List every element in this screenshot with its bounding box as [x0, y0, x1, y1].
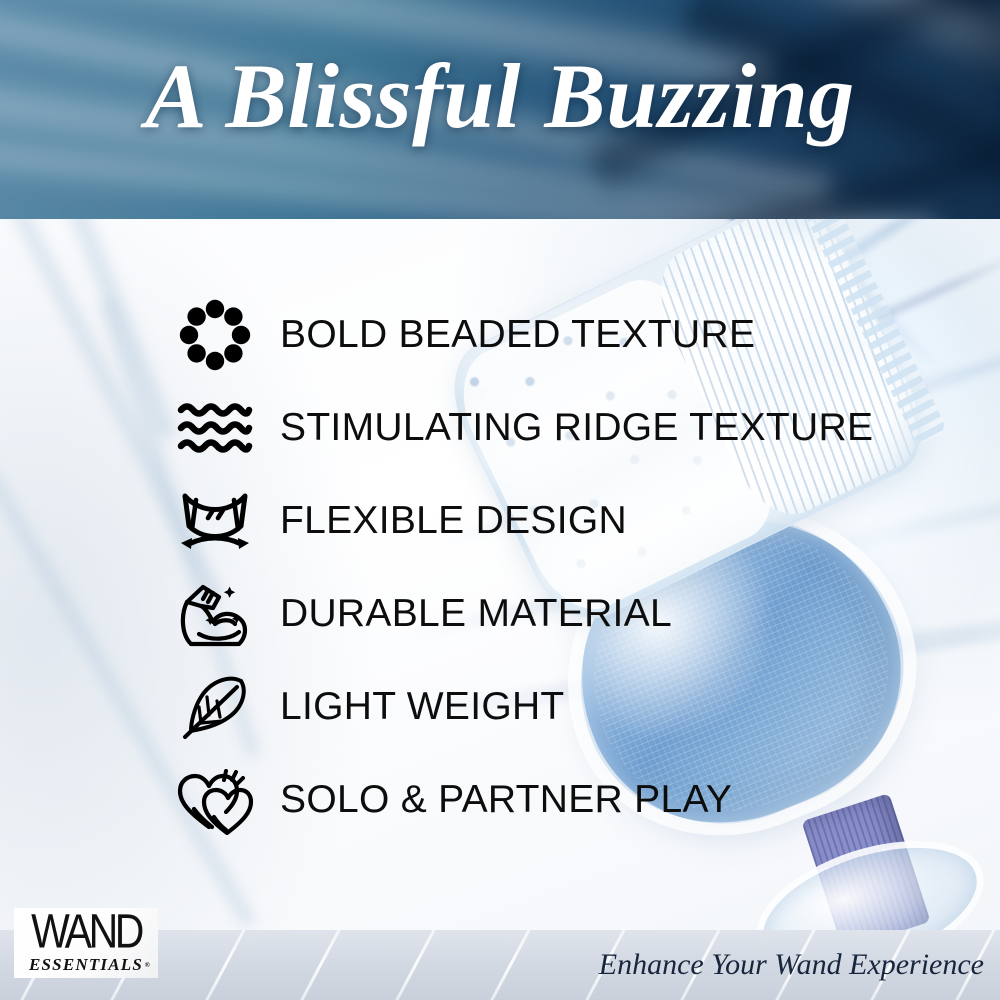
feature-label: FLEXIBLE DESIGN [280, 499, 627, 543]
flexible-band-icon [172, 485, 258, 557]
two-hearts-icon [172, 764, 258, 836]
feature-row-solo-and-partner-play: SOLO & PARTNER PLAY [172, 756, 860, 844]
logo-secondary-text: ESSENTIALS® [29, 955, 143, 975]
flexed-bicep-icon [172, 578, 258, 650]
logo-primary-text: WAND [31, 909, 141, 954]
page-title: A Blissful Buzzing [0, 50, 1000, 142]
feature-label: LIGHT WEIGHT [280, 685, 565, 729]
feature-row-light-weight: LIGHT WEIGHT [172, 663, 860, 751]
feature-list: BOLD BEADED TEXTURE STIMULATING RIDGE TE… [0, 219, 860, 930]
feature-label: BOLD BEADED TEXTURE [280, 313, 755, 357]
footer-tagline: Enhance Your Wand Experience [599, 948, 984, 982]
feature-row-durable-material: DURABLE MATERIAL [172, 570, 860, 658]
wavy-lines-icon [172, 392, 258, 464]
logo-secondary-label: ESSENTIALS [29, 955, 143, 974]
feature-row-bold-beaded-texture: BOLD BEADED TEXTURE [172, 291, 860, 379]
feature-label: STIMULATING RIDGE TEXTURE [280, 406, 873, 450]
product-feature-graphic: A Blissful Buzzing [0, 0, 1000, 1000]
feature-label: SOLO & PARTNER PLAY [280, 778, 732, 822]
header-banner: A Blissful Buzzing [0, 0, 1000, 219]
brand-logo: WAND ESSENTIALS® [14, 908, 158, 978]
feather-icon [172, 671, 258, 743]
feature-label: DURABLE MATERIAL [280, 592, 672, 636]
feature-row-flexible-design: FLEXIBLE DESIGN [172, 477, 860, 565]
registered-mark: ® [145, 961, 151, 969]
beaded-circle-icon [172, 299, 258, 371]
feature-row-stimulating-ridge-texture: STIMULATING RIDGE TEXTURE [172, 384, 860, 472]
